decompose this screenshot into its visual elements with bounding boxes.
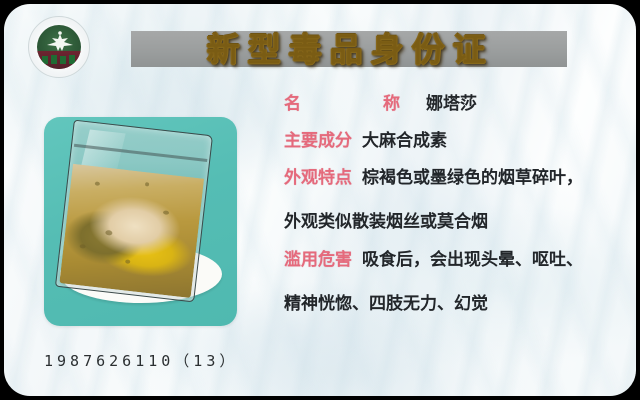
serial-number: 1987626110（13） (44, 350, 238, 371)
content-speck (125, 259, 130, 264)
field-value: 吸食后，会出现头晕、呕吐、 (362, 250, 583, 270)
content-speck (105, 230, 113, 236)
bag-contents (59, 164, 204, 298)
info-line: 外观特点棕褐色或墨绿色的烟草碎叶， (284, 170, 630, 187)
field-value-continuation: 外观类似散装烟丝或莫合烟 (284, 207, 630, 232)
specimen-photo (44, 117, 237, 326)
emblem-glyph-row (37, 49, 81, 69)
info-row-name: 名 称娜塔莎 (284, 96, 630, 113)
page-title: 新型毒品身份证 (140, 19, 560, 75)
field-label: 滥用危害 (284, 250, 352, 270)
emblem-outer-disc (28, 16, 90, 78)
info-line: 名 称娜塔莎 (284, 96, 630, 113)
field-label: 名 称 (284, 94, 416, 114)
emblem-inner-disc (37, 25, 81, 69)
content-speck (163, 210, 169, 215)
content-speck (79, 244, 85, 249)
bag-plastic-body (55, 120, 213, 303)
info-row-appearance: 外观特点棕褐色或墨绿色的烟草碎叶， 外观类似散装烟丝或莫合烟 (284, 170, 630, 232)
poster-root: 新型毒品身份证 19876 (0, 0, 640, 400)
field-label: 外观特点 (284, 168, 352, 188)
field-value: 娜塔莎 (426, 94, 477, 114)
info-list: 名 称娜塔莎 主要成分大麻合成素 外观特点棕褐色或墨绿色的烟草碎叶， 外观类似散… (284, 96, 630, 334)
info-row-harm: 滥用危害吸食后，会出现头晕、呕吐、 精神恍惚、四肢无力、幻觉 (284, 252, 630, 314)
id-card-background: 新型毒品身份证 19876 (4, 4, 636, 396)
info-line: 滥用危害吸食后，会出现头晕、呕吐、 (284, 252, 630, 269)
emblem-red-band (37, 51, 81, 69)
field-label: 主要成分 (284, 131, 352, 151)
field-value: 大麻合成素 (362, 131, 447, 151)
field-value-continuation: 精神恍惚、四肢无力、幻觉 (284, 289, 630, 314)
content-speck (145, 182, 149, 186)
field-value: 棕褐色或墨绿色的烟草碎叶， (362, 168, 583, 188)
narcotics-control-commission-emblem (28, 16, 90, 78)
ziplock-bag (55, 120, 213, 303)
info-row-ingredient: 主要成分大麻合成素 (284, 133, 630, 150)
content-speck (94, 181, 99, 186)
info-line: 主要成分大麻合成素 (284, 133, 630, 150)
